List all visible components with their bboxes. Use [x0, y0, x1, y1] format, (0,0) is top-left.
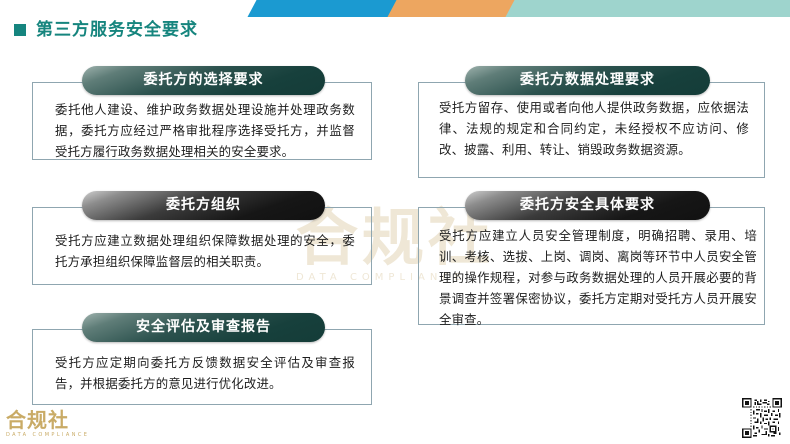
qr-code-icon: [742, 398, 782, 438]
brand-logo: 合规社 DATA COMPLIANCE: [6, 410, 80, 438]
card-3-body: 受托方应建立数据处理组织保障数据处理的安全，委托方承担组织保障监督层的相关职责。: [55, 230, 355, 272]
card-3-header: 委托方组织: [82, 191, 325, 220]
content-card-4: 受托方应建立人员安全管理制度，明确招聘、录用、培训、考核、选拔、上岗、调岗、离岗…: [418, 207, 765, 325]
banner-segment-orange: [387, 0, 516, 17]
banner-segment-teal: [505, 0, 790, 17]
slide-canvas: 第三方服务安全要求 合规社 DATA COMPLIANCE 委托他人建设、维护政…: [0, 0, 790, 444]
top-banner: [0, 0, 790, 17]
card-4-body: 受托方应建立人员安全管理制度，明确招聘、录用、培训、考核、选拔、上岗、调岗、离岗…: [439, 225, 757, 330]
page-title-text: 第三方服务安全要求: [36, 21, 198, 39]
card-2-header: 委托方数据处理要求: [465, 66, 710, 95]
page-title: 第三方服务安全要求: [14, 21, 198, 39]
card-2-body: 受托方留存、使用或者向他人提供政务数据，应依据法律、法规的规定和合同约定，未经授…: [439, 97, 749, 160]
card-1-body: 委托他人建设、维护政务数据处理设施并处理政务数据，委托方应经过严格审批程序选择受…: [55, 99, 355, 162]
card-5-body: 受托方应定期向委托方反馈数据安全评估及审查报告，并根据委托方的意见进行优化改进。: [55, 352, 355, 394]
brand-logo-subtext: DATA COMPLIANCE: [6, 432, 80, 438]
card-5-header: 安全评估及审查报告: [82, 313, 325, 342]
banner-segment-blue: [247, 0, 398, 17]
card-1-header: 委托方的选择要求: [82, 66, 325, 95]
content-card-2: 受托方留存、使用或者向他人提供政务数据，应依据法律、法规的规定和合同约定，未经授…: [418, 82, 765, 178]
brand-logo-text: 合规社: [6, 410, 80, 431]
card-4-header: 委托方安全具体要求: [465, 191, 710, 220]
square-bullet-icon: [14, 24, 26, 36]
